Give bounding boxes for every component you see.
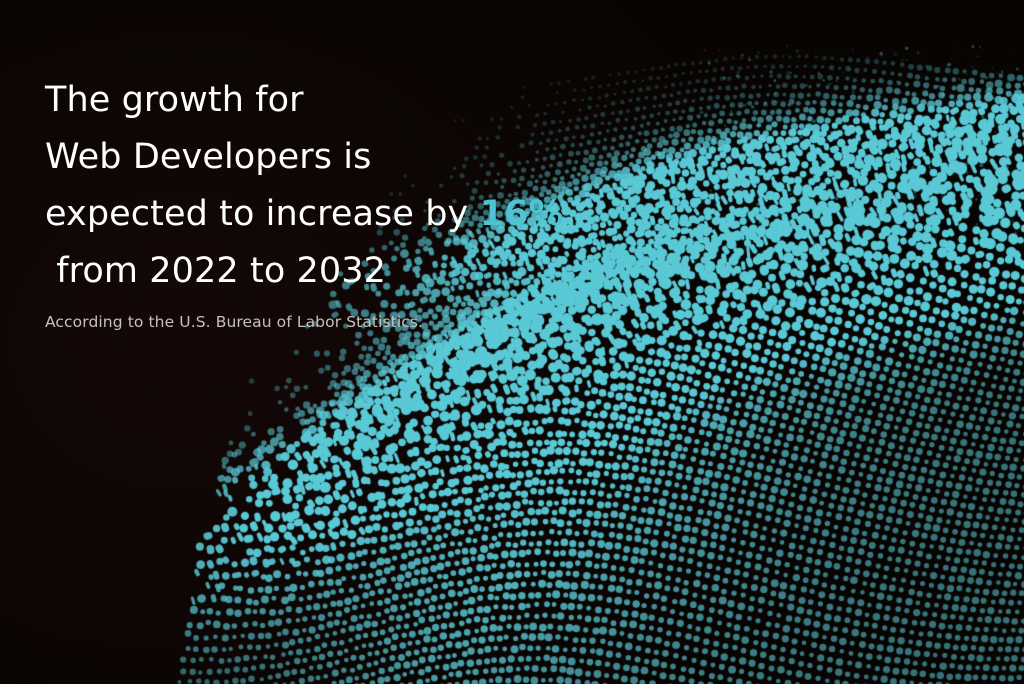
headline-text-block: The growth for Web Developers is expecte… — [45, 72, 565, 332]
headline-line-3: expected to increase by 16% — [45, 186, 565, 243]
growth-percentage-highlight: 16% — [480, 194, 564, 234]
source-attribution: According to the U.S. Bureau of Labor St… — [45, 312, 565, 332]
slide-canvas: The growth for Web Developers is expecte… — [0, 0, 1024, 684]
headline-line-3-prefix: expected to increase by — [45, 194, 480, 234]
headline-line-2: Web Developers is — [45, 129, 565, 186]
headline-line-1: The growth for — [45, 72, 565, 129]
headline-line-4: from 2022 to 2032 — [45, 243, 565, 300]
